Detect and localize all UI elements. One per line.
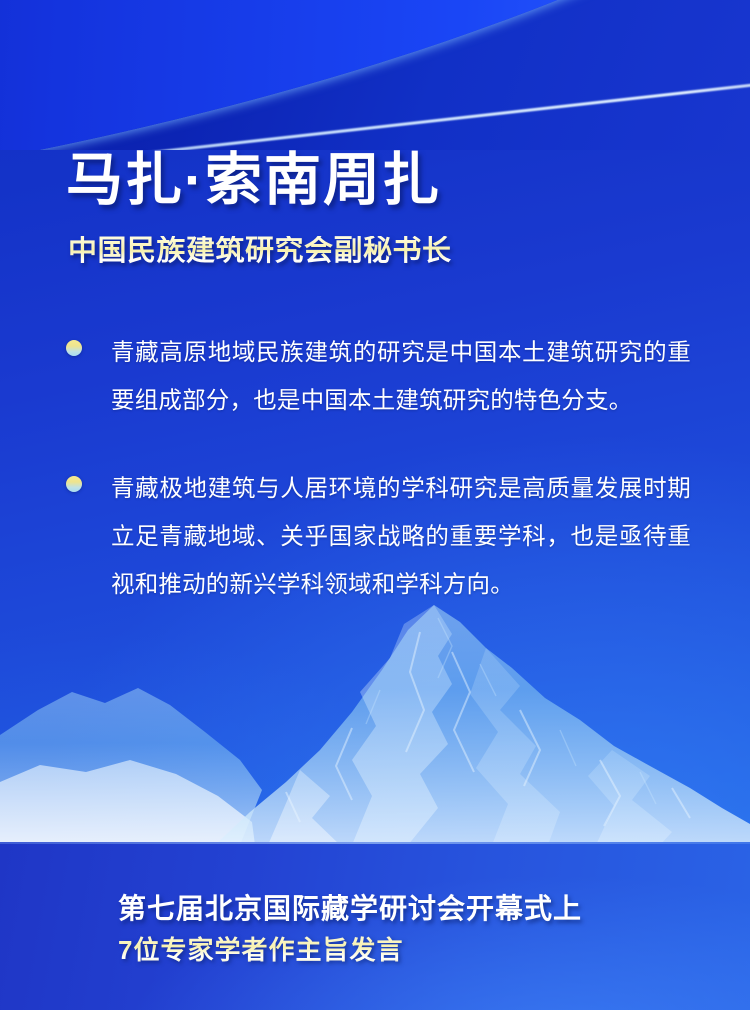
- dot-icon: [66, 340, 82, 356]
- footer-band: 第七届北京国际藏学研讨会开幕式上 7位专家学者作主旨发言: [0, 842, 750, 1010]
- speaker-name: 马扎·索南周扎: [66, 152, 441, 209]
- list-item: 青藏高原地域民族建筑的研究是中国本土建筑研究的重要组成部分，也是中国本土建筑研究…: [66, 328, 691, 424]
- speaker-role: 中国民族建筑研究会副秘书长: [68, 236, 452, 268]
- quote-list: 青藏高原地域民族建筑的研究是中国本土建筑研究的重要组成部分，也是中国本土建筑研究…: [66, 328, 691, 648]
- quote-text: 青藏极地建筑与人居环境的学科研究是高质量发展时期立足青藏地域、关乎国家战略的重要…: [111, 464, 691, 608]
- quote-text: 青藏高原地域民族建筑的研究是中国本土建筑研究的重要组成部分，也是中国本土建筑研究…: [111, 328, 691, 424]
- top-banner-band: [0, 0, 750, 150]
- poster-root: 马扎·索南周扎 中国民族建筑研究会副秘书长 青藏高原地域民族建筑的研究是中国本土…: [0, 0, 750, 1010]
- diagonal-light-sweep: [0, 0, 750, 150]
- footer-subline: 7位专家学者作主旨发言: [118, 930, 403, 967]
- footer-headline: 第七届北京国际藏学研讨会开幕式上: [118, 887, 582, 927]
- dot-icon: [66, 476, 82, 492]
- list-item: 青藏极地建筑与人居环境的学科研究是高质量发展时期立足青藏地域、关乎国家战略的重要…: [66, 464, 691, 608]
